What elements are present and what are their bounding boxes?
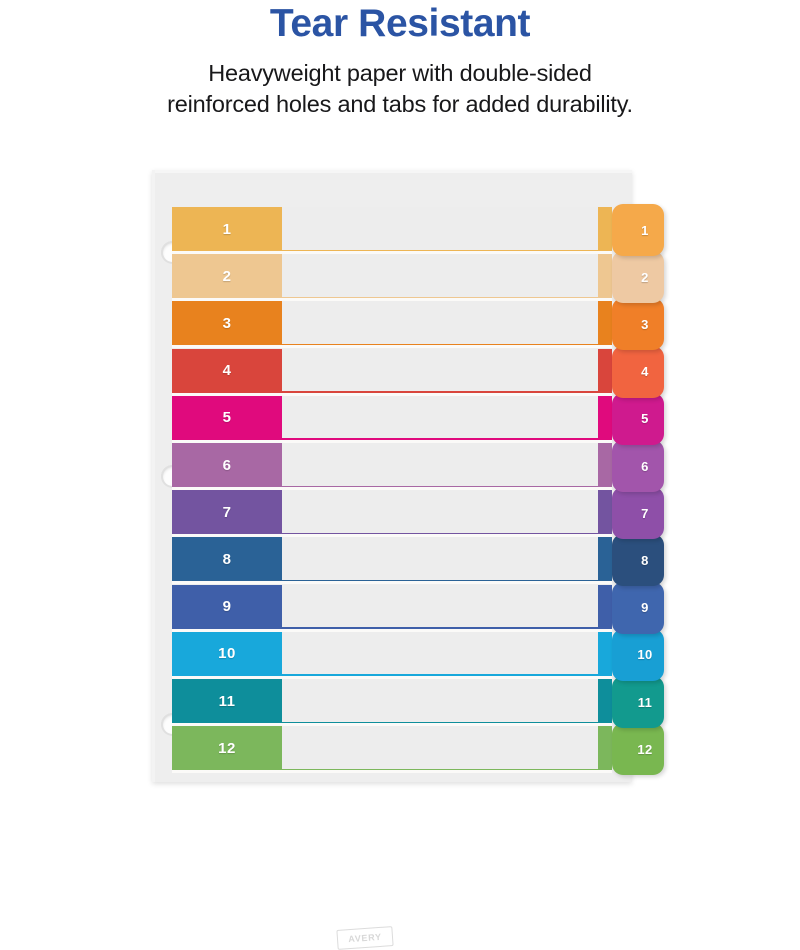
side-tab: 8 — [612, 534, 664, 586]
side-tab-label: 8 — [612, 534, 664, 586]
side-tab-label: 6 — [612, 440, 664, 492]
side-tab-label: 12 — [612, 723, 664, 775]
side-tab-label: 4 — [612, 346, 664, 398]
side-tab: 11 — [612, 676, 664, 728]
side-tab-label: 2 — [612, 251, 664, 303]
side-tab: 4 — [612, 346, 664, 398]
side-tab: 5 — [612, 393, 664, 445]
page-subtitle: Heavyweight paper with double-sided rein… — [60, 58, 740, 120]
side-tab-label: 10 — [612, 629, 664, 681]
side-tab-label: 3 — [612, 298, 664, 350]
side-tab: 3 — [612, 298, 664, 350]
avery-logo: AVERY — [336, 926, 393, 950]
subtitle-line-2: reinforced holes and tabs for added dura… — [167, 91, 633, 117]
side-tab-list: 123456789101112 — [152, 170, 632, 782]
page-headline: Tear Resistant — [0, 2, 800, 46]
side-tab: 1 — [612, 204, 664, 256]
side-tab: 10 — [612, 629, 664, 681]
side-tab: 12 — [612, 723, 664, 775]
product-image: Tear Resistant Heavyweight paper with do… — [0, 0, 800, 800]
side-tab-label: 7 — [612, 487, 664, 539]
subtitle-line-1: Heavyweight paper with double-sided — [208, 60, 592, 86]
side-tab: 2 — [612, 251, 664, 303]
side-tab-label: 9 — [612, 582, 664, 634]
side-tab: 9 — [612, 582, 664, 634]
side-tab-label: 5 — [612, 393, 664, 445]
side-tab-label: 11 — [612, 676, 664, 728]
side-tab: 6 — [612, 440, 664, 492]
side-tab: 7 — [612, 487, 664, 539]
side-tab-label: 1 — [612, 204, 664, 256]
divider-set-paper: 123456789101112 123456789101112 AVERY — [152, 170, 632, 782]
